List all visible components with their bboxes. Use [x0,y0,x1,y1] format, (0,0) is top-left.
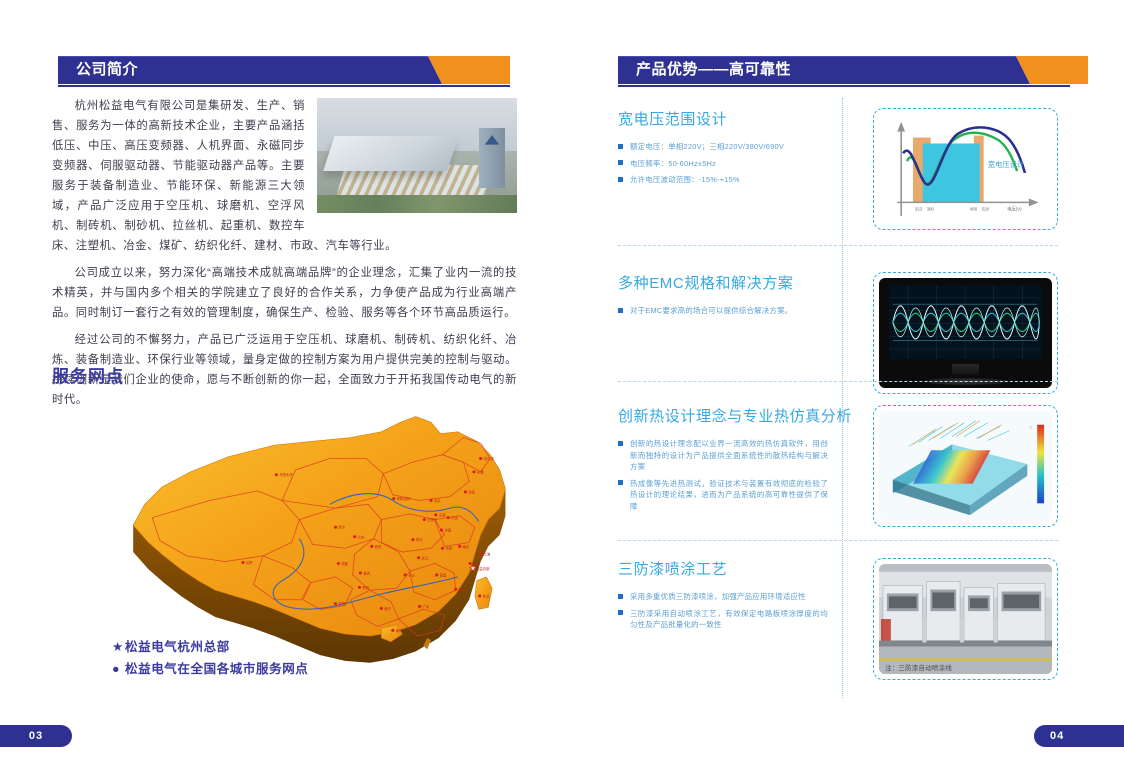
map-city-label: 沈阳 [468,489,475,494]
left-page: 公司简介 杭州松益电气有限公司是集研发、生产、销售、服务为一体的高新技术企业，主… [0,0,562,765]
page-number-left-text: 03 [0,725,72,747]
wide-voltage-chart: 323 380 480 528 电压(V) 宽电压设计 [879,114,1052,224]
legend-branch-label: 松益电气在全国各城市服务网点 [125,662,308,676]
star-marker-icon: ★ [112,636,125,658]
bullet: 允许电压波动范围：-15%-+15% [618,174,828,186]
feature-conformal-coating: 三防漆喷涂工艺 采用多重优质三防漆喷涂，加强产品应用环境适应性 三防漆采用自动喷… [618,558,1058,680]
feature-3-bullets: 创新的热设计理念配以业界一流高效的热仿真软件，用创新而独特的设计为产品提供全面系… [618,438,828,512]
map-city-label: 石家庄 [427,517,438,522]
legend-hq-label: 松益电气杭州总部 [125,640,230,654]
map-city-label: 武汉 [421,555,428,560]
feature-2-body: 多种EMC规格和解决方案 对于EMC要求高的场合可以提供综合解决方案。 [618,272,828,322]
map-legend: ★松益电气杭州总部 ●松益电气在全国各城市服务网点 [112,636,308,680]
emc-monitor-frame [873,272,1058,394]
coating-line-svg [879,564,1052,674]
banner-orange-tab [1030,56,1088,84]
photo-trees [317,195,517,213]
monitor-stand [952,364,980,375]
wide-voltage-chart-svg: 323 380 480 528 电压(V) 宽电压设计 [879,114,1052,224]
dot-marker-icon [392,497,395,500]
feature-4-bullets: 采用多重优质三防漆喷涂，加强产品应用环境适应性 三防漆采用自动喷涂工艺，有效保定… [618,591,828,631]
dot-marker-icon [391,629,394,632]
bullet: 电压频率：50-60Hz±5Hz [618,158,828,170]
map-city-label: 济南 [444,528,451,533]
dot-marker-icon [429,499,432,502]
banner-orange-tab [442,56,510,84]
dot-marker-icon [423,518,426,521]
feature-1-bullets: 额定电压：单相220V；三相220V/380V/690V 电压频率：50-60H… [618,141,828,186]
dot-marker-icon [464,490,467,493]
thermal-simulation: °C [879,411,1052,521]
page-number-right-text: 04 [1034,725,1124,747]
conformal-coating-line: 注：三防漆自动喷涂线 [879,564,1052,674]
map-city-label: 南京 [463,544,470,549]
map-city-label: 贵阳 [362,585,369,590]
dot-marker-icon [478,594,481,597]
dot-marker-icon [479,552,482,555]
intro-paragraph-2: 公司成立以来，努力深化“高端技术成就高端品牌”的企业理念，汇集了业内一流的技术精… [52,263,517,323]
bullet: 热成像等先进热测试，验证技术与装置有效彻底的检验了热设计的理论结果，进而为产品系… [618,478,828,513]
x-axis-label: 电压(V) [1007,205,1022,212]
map-city-label: 南昌 [440,572,447,577]
map-city-label: 西宁 [338,525,345,530]
dot-marker-icon [411,538,414,541]
dot-marker-icon [275,473,278,476]
feature-3-title: 创新热设计理念与专业热仿真分析 [618,405,828,426]
dot-marker-icon [337,562,340,565]
map-city-label: 兰州 [358,534,365,539]
map-city-label: 合肥 [445,546,452,551]
y-axis-arrow [897,122,905,132]
dot-marker-icon [358,586,361,589]
bullet: 额定电压：单相220V；三相220V/380V/690V [618,141,828,153]
feature-wide-voltage: 宽电压范围设计 额定电压：单相220V；三相220V/380V/690V 电压频… [618,108,1058,230]
map-city-label: 松益总部 [476,566,490,571]
map-city-label: 南宁 [384,606,391,611]
band-fill [923,143,980,202]
dot-marker-icon [334,526,337,529]
dot-marker-icon: ● [112,658,125,680]
dot-marker-icon [472,470,475,473]
x-tick-1: 323 [915,206,923,211]
wide-voltage-chart-frame: 323 380 480 528 电压(V) 宽电压设计 [873,108,1058,230]
map-city-label: 成都 [341,561,348,566]
feature-emc: 多种EMC规格和解决方案 对于EMC要求高的场合可以提供综合解决方案。 [618,272,1058,394]
feature-1-title: 宽电压范围设计 [618,108,828,129]
dot-marker-icon [458,545,461,548]
dot-marker-icon [454,588,457,591]
emc-waveform-monitor [879,278,1052,388]
map-city-label: 长沙 [408,572,415,577]
company-intro-banner: 公司简介 [58,56,510,84]
x-tick-4: 528 [982,206,990,211]
chart-annotation: 宽电压设计 [988,160,1025,169]
dot-marker-icon [334,602,337,605]
feature-4-title: 三防漆喷涂工艺 [618,558,828,579]
product-advantage-banner: 产品优势——高可靠性 [618,56,1070,84]
dot-marker-icon [447,516,450,519]
product-advantage-title: 产品优势——高可靠性 [636,56,791,84]
map-city-label: 重庆 [363,571,370,576]
map-city-label: 台北 [483,593,490,598]
dot-marker-icon [435,573,438,576]
dot-marker-icon [241,561,244,564]
feature-thermal-design: 创新热设计理念与专业热仿真分析 创新的热设计理念配以业界一流高效的热仿真软件，用… [618,405,1058,527]
map-city-label: 西安 [375,544,382,549]
dot-marker-icon [353,535,356,538]
feature-divider-2 [618,381,1058,382]
page-number-right: 04 [1034,725,1124,747]
map-city-label: 昆明 [338,601,345,606]
map-city-label: 北京 [434,498,441,503]
page-number-left: 03 [0,725,72,747]
dot-marker-icon [434,513,437,516]
dot-marker-icon [417,556,420,559]
thermal-color-scale [1037,425,1044,504]
bullet: 三防漆采用自动喷涂工艺，有效保定电路板喷涂厚度的均匀性及产品批量化的一致性 [618,608,828,631]
map-city-label: 上海 [484,551,491,556]
map-city-label: 福州 [459,587,466,592]
x-axis-arrow [1029,198,1039,206]
waveform-svg [889,285,1041,360]
photo-office-tower [479,128,505,188]
map-city-label: 拉萨 [246,560,253,565]
feature-4-body: 三防漆喷涂工艺 采用多重优质三防漆喷涂，加强产品应用环境适应性 三防漆采用自动喷… [618,558,828,636]
map-city-label: 长春 [477,469,484,474]
coating-line-frame: 注：三防漆自动喷涂线 [873,558,1058,680]
map-city-label: 哈尔滨 [484,456,495,461]
dot-marker-icon [418,605,421,608]
map-taiwan [475,577,492,609]
legend-item-branch: ●松益电气在全国各城市服务网点 [112,658,308,680]
monitor-screen [889,285,1041,360]
feature-2-title: 多种EMC规格和解决方案 [618,272,828,293]
dot-marker-icon [440,529,443,532]
banner-underline [618,85,1070,87]
bullet: 创新的热设计理念配以业界一流高效的热仿真软件，用创新而独特的设计为产品提供全面系… [618,438,828,473]
map-city-label: 广州 [422,604,429,609]
map-city-label: 郑州 [416,537,423,542]
feature-2-bullets: 对于EMC要求高的场合可以提供综合解决方案。 [618,305,828,317]
map-city-label: 天津 [439,512,446,517]
photo-main-building [323,136,458,171]
map-city-label: 大连 [451,515,458,520]
feature-divider-1 [618,245,1058,246]
bullet: 采用多重优质三防漆喷涂，加强产品应用环境适应性 [618,591,828,603]
x-tick-2: 380 [927,206,935,211]
dot-marker-icon [441,547,444,550]
banner-underline [58,85,510,87]
feature-1-body: 宽电压范围设计 额定电压：单相220V；三相220V/380V/690V 电压频… [618,108,828,191]
legend-item-hq: ★松益电气杭州总部 [112,636,308,658]
feature-3-body: 创新热设计理念与专业热仿真分析 创新的热设计理念配以业界一流高效的热仿真软件，用… [618,405,828,517]
factory-photo [317,98,517,213]
dot-marker-icon [370,545,373,548]
feature-divider-3 [618,540,1058,541]
dot-marker-icon [404,573,407,576]
dot-marker-icon [380,607,383,610]
map-city-label: 乌鲁木齐 [279,472,293,477]
bullet: 对于EMC要求高的场合可以提供综合解决方案。 [618,305,828,317]
thermal-svg: °C [879,411,1052,521]
x-tick-3: 480 [970,206,978,211]
dot-marker-icon [479,457,482,460]
map-city-label: 海口 [396,628,403,633]
company-intro-title: 公司简介 [76,56,138,84]
thermal-simulation-frame: °C [873,405,1058,527]
dot-marker-icon [359,572,362,575]
map-city-label: 呼和浩特 [397,496,411,501]
coating-line-caption: 注：三防漆自动喷涂线 [885,662,952,672]
